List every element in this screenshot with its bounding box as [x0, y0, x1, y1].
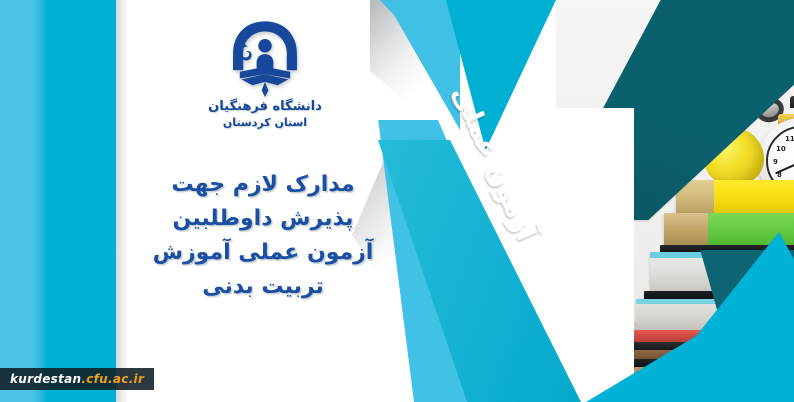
clock-top-button [790, 96, 794, 108]
left-accent-band-inner [46, 0, 116, 402]
watermark-domain: .cfu.ac.ir [81, 372, 144, 386]
headline-line-3: آزمون عملی آموزش [130, 236, 396, 270]
watermark: kurdestan.cfu.ac.ir [0, 368, 154, 390]
headline: مدارک لازم جهت پذیرش داوطلبین آزمون عملی… [130, 168, 396, 304]
headline-line-1: مدارک لازم جهت [130, 168, 396, 202]
watermark-site-name: kurdestan [10, 372, 81, 386]
university-logo: دانشگاه فرهنگیان استان کردستان [205, 18, 325, 158]
farhangian-emblem-icon [223, 18, 307, 102]
clock-tick-11: 11 [785, 135, 794, 143]
logo-province-name: استان کردستان [205, 117, 325, 128]
promo-banner: 12 1 2 3 4 5 6 7 8 9 10 11 [0, 0, 794, 402]
headline-line-4: تربیت بدنی [130, 270, 396, 304]
left-accent-band-gradient [33, 0, 47, 402]
headline-line-2: پذیرش داوطلبین [130, 202, 396, 236]
book-green-pages [664, 213, 708, 246]
clock-tick-10: 10 [776, 145, 786, 153]
clock-tick-9: 9 [773, 158, 778, 166]
left-band-shadow [116, 0, 128, 402]
